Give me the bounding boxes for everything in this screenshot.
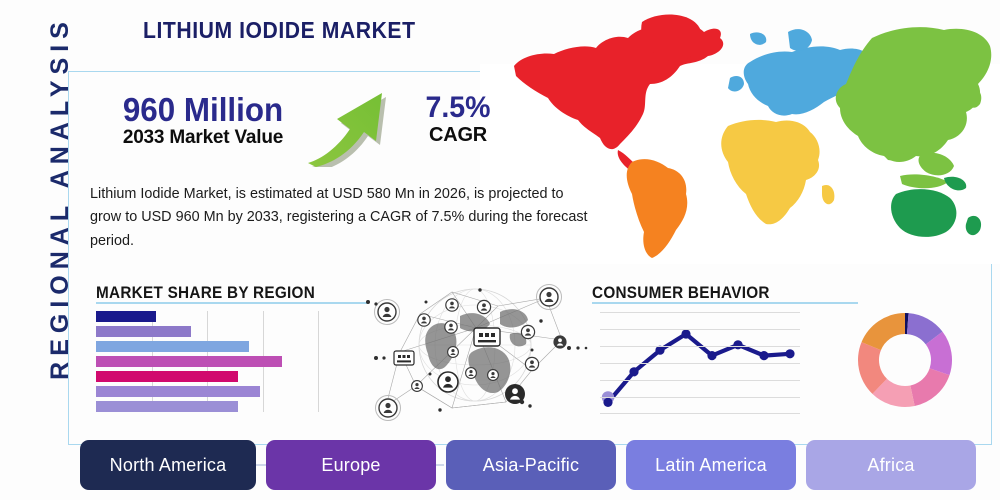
- bar-segment: [96, 386, 260, 397]
- bar-row: [96, 401, 238, 412]
- infographic-root: REGIONAL ANALYSIS LITHIUM IODIDE MARKET …: [0, 0, 1000, 500]
- region-pill-row: North America Europe Asia-Pacific Latin …: [80, 440, 920, 490]
- map-region-madagascar: [822, 185, 834, 204]
- map-region-japan: [968, 89, 982, 108]
- world-map: [492, 4, 997, 266]
- map-region-south-america: [627, 159, 688, 258]
- bar-row: [96, 326, 191, 337]
- bar-row: [96, 386, 260, 397]
- map-region-new-zealand: [966, 216, 981, 235]
- donut-chart: [856, 311, 954, 409]
- kpi-market-value: 960 Million 2033 Market Value: [88, 93, 318, 149]
- donut-chart-svg: [856, 311, 954, 409]
- kpi-market-value-number: 960 Million: [94, 93, 313, 127]
- region-pill-label: Africa: [867, 455, 914, 476]
- side-label: REGIONAL ANALYSIS: [37, 0, 83, 408]
- bar-segment: [96, 401, 238, 412]
- building-icon: [474, 328, 500, 346]
- market-share-rule: [96, 302, 368, 304]
- region-pill-north-america[interactable]: North America: [80, 440, 256, 490]
- building-icon: [394, 351, 414, 365]
- bar-segment: [96, 341, 249, 352]
- growth-arrow-icon: [304, 89, 400, 167]
- bar-row: [96, 341, 249, 352]
- map-region-indonesia: [900, 174, 948, 188]
- map-region-png: [944, 177, 966, 191]
- consumer-behavior-line-chart: [600, 308, 800, 414]
- bar-row: [96, 371, 238, 382]
- map-region-british-isles: [728, 76, 744, 91]
- bar-row: [96, 311, 156, 322]
- bar-segment: [96, 371, 238, 382]
- map-region-oceania: [891, 189, 956, 237]
- kpi-row: 960 Million 2033 Market Value 7.5% CAGR: [88, 93, 508, 165]
- bar-row: [96, 356, 282, 367]
- region-pill-label: Latin America: [655, 455, 767, 476]
- region-pill-latin-america[interactable]: Latin America: [626, 440, 796, 490]
- market-share-heading: MARKET SHARE BY REGION: [96, 283, 315, 303]
- globe-network-graphic: [356, 266, 594, 424]
- bar-segment: [96, 326, 191, 337]
- bar-segment: [96, 356, 282, 367]
- donut-segment: [862, 313, 905, 350]
- consumer-behavior-rule: [592, 302, 858, 304]
- region-pill-label: Europe: [321, 455, 380, 476]
- region-pill-europe[interactable]: Europe: [266, 440, 436, 490]
- region-pill-africa[interactable]: Africa: [806, 440, 976, 490]
- consumer-behavior-heading: CONSUMER BEHAVIOR: [592, 283, 770, 303]
- line-chart-gridlines: [600, 308, 800, 414]
- kpi-market-value-label: 2033 Market Value: [88, 127, 318, 149]
- map-region-iceland: [750, 32, 766, 44]
- donut-segment: [910, 368, 949, 406]
- map-region-southeast-asia: [919, 153, 954, 176]
- region-pill-label: Asia-Pacific: [483, 455, 579, 476]
- bar-segment: [96, 311, 156, 322]
- region-pill-asia-pacific[interactable]: Asia-Pacific: [446, 440, 616, 490]
- market-share-bar-chart: [96, 311, 318, 412]
- region-pill-label: North America: [110, 455, 227, 476]
- page-title: LITHIUM IODIDE MARKET: [143, 17, 416, 44]
- map-region-africa: [721, 120, 819, 224]
- map-region-asia: [836, 27, 992, 162]
